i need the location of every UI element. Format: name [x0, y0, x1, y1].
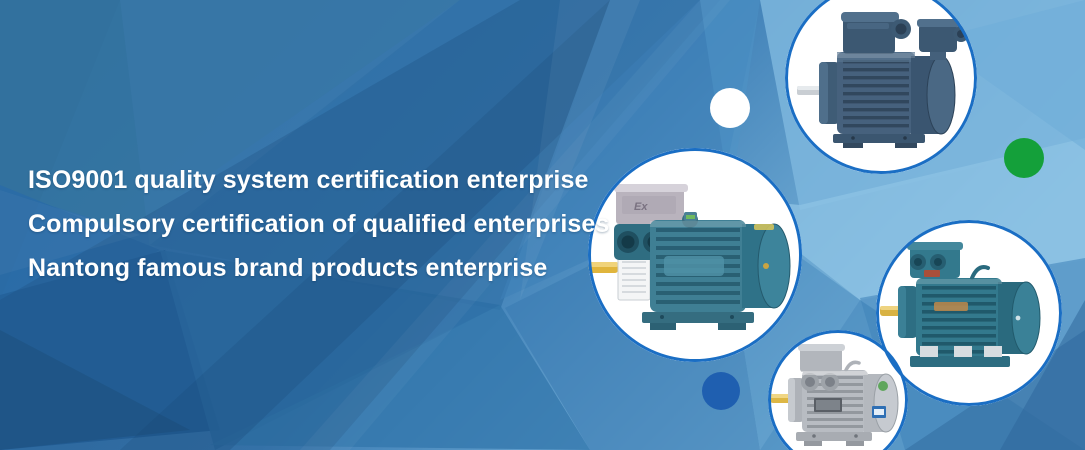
motor-photo-center[interactable]: Ex [588, 148, 802, 362]
blue-dot [702, 372, 740, 410]
motor-illustration-teal: Ex [588, 148, 802, 362]
promo-banner: ISO9001 quality system certification ent… [0, 0, 1085, 450]
headline-line-3: Nantong famous brand products enterprise [28, 246, 588, 290]
svg-text:Ex: Ex [634, 201, 648, 213]
white-dot [710, 88, 750, 128]
headline-block: ISO9001 quality system certification ent… [28, 158, 588, 290]
green-dot [1004, 138, 1044, 178]
headline-line-1: ISO9001 quality system certification ent… [28, 158, 588, 202]
headline-line-2: Compulsory certification of qualified en… [28, 202, 588, 246]
